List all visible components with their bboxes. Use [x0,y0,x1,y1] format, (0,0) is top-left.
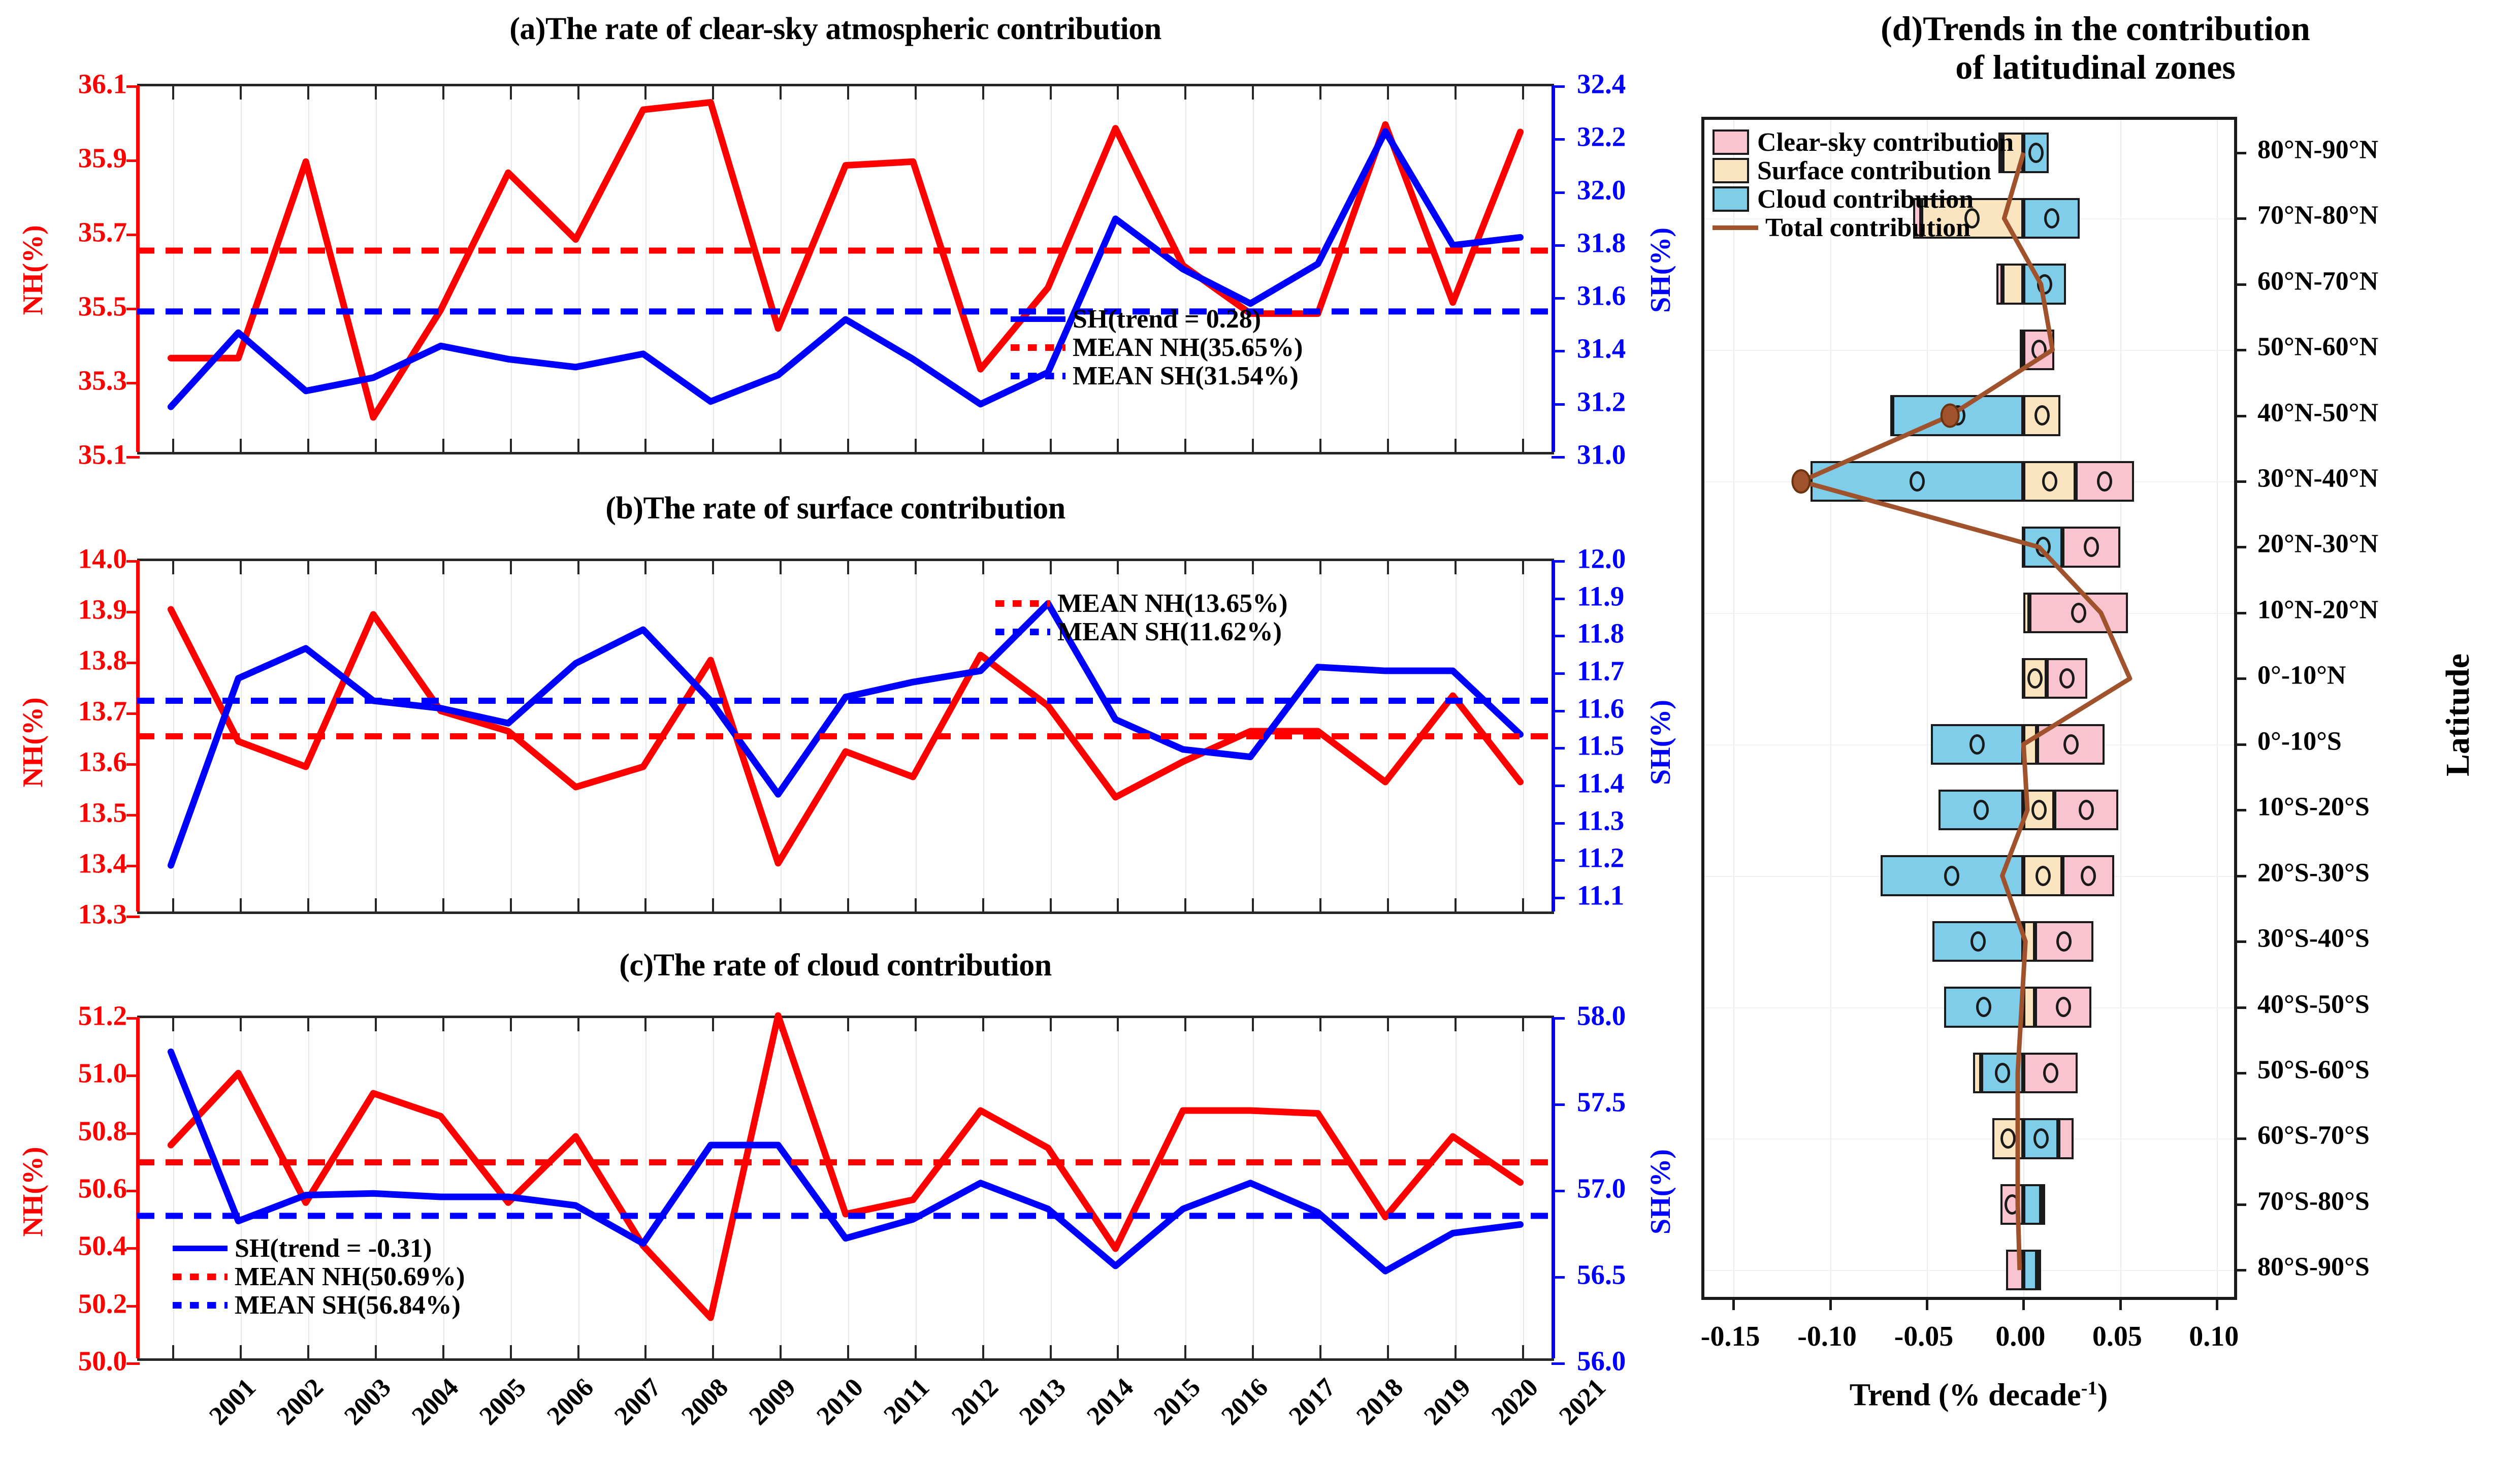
panel-a: (a)The rate of clear-sky atmospheric con… [0,0,1671,487]
panel-c-legend: SH(trend = -0.31)MEAN NH(50.69%)MEAN SH(… [173,1234,465,1319]
panel-d: (d)Trends in the contribution of latitud… [1671,0,2520,1467]
legend-swatch-dashed-line [1011,344,1065,351]
panel-d-xaxis-title-sup: -1 [2081,1378,2097,1399]
latitude-label: 60°N-70°N [2257,266,2378,296]
legend-swatch-dashed-line [1011,373,1065,379]
latitude-tick [2234,1203,2246,1206]
legend-swatch-dashed-line [995,629,1050,635]
latitude-label: 70°N-80°N [2257,201,2378,231]
latitude-label: 0°-10°N [2257,661,2346,691]
legend-swatch-dashed-line [173,1274,228,1280]
latitude-tick [2234,1072,2246,1074]
legend-item: MEAN NH(35.65%) [1011,333,1303,362]
xaxis-tick [2022,1297,2025,1310]
legend-label: Cloud contribution [1757,184,1974,214]
latitude-label: 70°S-80°S [2257,1186,2370,1216]
panel-c-series-layer [0,944,1671,1467]
panel-d-title-line1: (d)Trends in the contribution [1671,9,2520,48]
legend-swatch-box [1713,129,1749,155]
panel-d-xaxis-title-text: Trend (% decade [1850,1378,2081,1413]
legend-label: SH(trend = -0.31) [235,1233,432,1263]
latitude-label: 30°N-40°N [2257,463,2378,493]
xaxis-tick [1732,1297,1735,1310]
legend-item: SH(trend = -0.31) [173,1234,465,1262]
panel-d-xaxis-title-end: ) [2097,1378,2108,1413]
legend-item: MEAN SH(31.54%) [1011,362,1303,390]
latitude-label: 10°S-20°S [2257,792,2370,822]
panel-b: (b)The rate of surface contribution NH(%… [0,487,1671,944]
legend-swatch-solid-line [1713,225,1758,230]
xaxis-tick [1829,1297,1832,1310]
xaxis-tick-label: 0.05 [2092,1320,2142,1353]
legend-label: MEAN NH(13.65%) [1057,589,1288,618]
total-contribution-marker [1942,405,1959,427]
panel-b-series-layer [0,487,1671,944]
total-contribution-line [1801,153,2129,1270]
legend-label: Surface contribution [1757,156,1991,186]
xaxis-tick [2119,1297,2122,1310]
legend-item: Surface contribution [1713,156,2014,185]
latitude-tick [2234,940,2246,943]
latitude-label: 0°-10°S [2257,726,2342,756]
latitude-tick [2234,415,2246,417]
panel-d-title-line2: of latitudinal zones [1671,48,2520,86]
legend-label: MEAN SH(31.54%) [1073,361,1299,391]
legend-swatch-dashed-line [173,1302,228,1309]
legend-label: Clear-sky contribution [1757,127,2014,157]
xaxis-tick-label: -0.10 [1797,1320,1857,1353]
legend-item: MEAN NH(13.65%) [995,589,1288,617]
latitude-label: 20°S-30°S [2257,858,2370,888]
latitude-label: 30°S-40°S [2257,924,2370,954]
total-contribution-marker [1792,470,1810,493]
latitude-tick [2234,152,2246,154]
figure-root: (a)The rate of clear-sky atmospheric con… [0,0,2520,1467]
legend-label: MEAN NH(35.65%) [1073,333,1303,363]
latitude-label: 80°S-90°S [2257,1252,2370,1282]
latitude-tick [2234,546,2246,548]
latitude-tick [2234,875,2246,877]
latitude-tick [2234,480,2246,483]
latitude-tick [2234,677,2246,680]
latitude-tick [2234,743,2246,746]
legend-label: Total contribution [1765,213,1970,243]
legend-label: MEAN SH(11.62%) [1057,617,1282,647]
latitude-tick [2234,809,2246,811]
xaxis-tick-label: -0.05 [1894,1320,1954,1353]
latitude-label: 50°N-60°N [2257,332,2378,362]
legend-item: MEAN SH(56.84%) [173,1291,465,1319]
panel-c: (c)The rate of cloud contribution NH(%) … [0,944,1671,1467]
legend-item: SH(trend = 0.28) [1011,305,1303,333]
latitude-label: 40°S-50°S [2257,989,2370,1019]
latitude-tick [2234,217,2246,220]
panel-d-legend: Clear-sky contributionSurface contributi… [1713,128,2014,242]
legend-label: MEAN SH(56.84%) [235,1290,461,1320]
latitude-tick [2234,1137,2246,1140]
panel-a-series-layer [0,0,1671,487]
latitude-tick [2234,283,2246,286]
panel-d-title: (d)Trends in the contribution of latitud… [1671,9,2520,86]
latitude-label: 60°S-70°S [2257,1121,2370,1151]
legend-label: SH(trend = 0.28) [1073,304,1261,334]
legend-item: Clear-sky contribution [1713,128,2014,156]
left-column: (a)The rate of clear-sky atmospheric con… [0,0,1671,1467]
legend-swatch-solid-line [1011,316,1065,322]
latitude-tick [2234,612,2246,614]
total-contribution-layer [1704,120,2240,1303]
xaxis-tick [1926,1297,1928,1310]
panel-b-legend: MEAN NH(13.65%)MEAN SH(11.62%) [995,589,1288,646]
panel-d-yaxis-title: Latitude [2439,613,2477,817]
latitude-tick [2234,1006,2246,1009]
xaxis-tick-label: 0.10 [2189,1320,2239,1353]
legend-label: MEAN NH(50.69%) [235,1262,465,1292]
legend-item: Cloud contribution [1713,185,2014,213]
xaxis-tick-label: -0.15 [1701,1320,1760,1353]
legend-swatch-box [1713,158,1749,183]
latitude-label: 40°N-50°N [2257,398,2378,428]
legend-swatch-box [1713,186,1749,212]
legend-swatch-solid-line [173,1246,228,1251]
latitude-tick [2234,349,2246,351]
legend-item: Total contribution [1713,213,2014,242]
latitude-label: 50°S-60°S [2257,1055,2370,1085]
xaxis-tick [2216,1297,2218,1310]
right-column: (d)Trends in the contribution of latitud… [1671,0,2520,1467]
latitude-label: 10°N-20°N [2257,595,2378,625]
latitude-label: 20°N-30°N [2257,529,2378,559]
latitude-tick [2234,1269,2246,1272]
legend-item: MEAN SH(11.62%) [995,617,1288,646]
xaxis-tick-label: 0.00 [1995,1320,2045,1353]
legend-swatch-dashed-line [995,600,1050,607]
legend-item: MEAN NH(50.69%) [173,1262,465,1291]
panel-d-plot-area [1701,117,2237,1300]
latitude-label: 80°N-90°N [2257,135,2378,165]
panel-a-legend: SH(trend = 0.28)MEAN NH(35.65%)MEAN SH(3… [1011,305,1303,390]
panel-d-xaxis-title: Trend (% decade-1) [1554,1377,2403,1414]
